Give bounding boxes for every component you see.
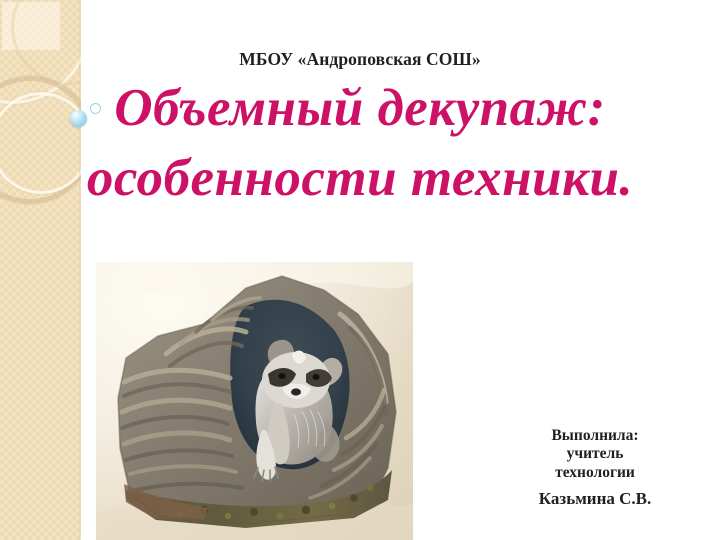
decorative-side-band [0,0,81,540]
author-role-line-3: технологии [470,464,720,482]
slide-title-line-1: Объемный декупаж: [0,82,720,135]
author-block: Выполнила: учитель технологии Казьмина С… [470,427,720,509]
decoupage-photo [96,262,413,540]
author-name: Казьмина С.В. [470,489,720,509]
band-edge-shadow [79,0,81,540]
slide-title-line-2: особенности техники. [0,152,720,205]
author-role-line-1: Выполнила: [470,427,720,445]
school-name: МБОУ «Андроповская СОШ» [0,49,720,70]
presentation-slide: МБОУ «Андроповская СОШ» Объемный декупаж… [0,0,720,540]
author-role-line-2: учитель [470,445,720,463]
